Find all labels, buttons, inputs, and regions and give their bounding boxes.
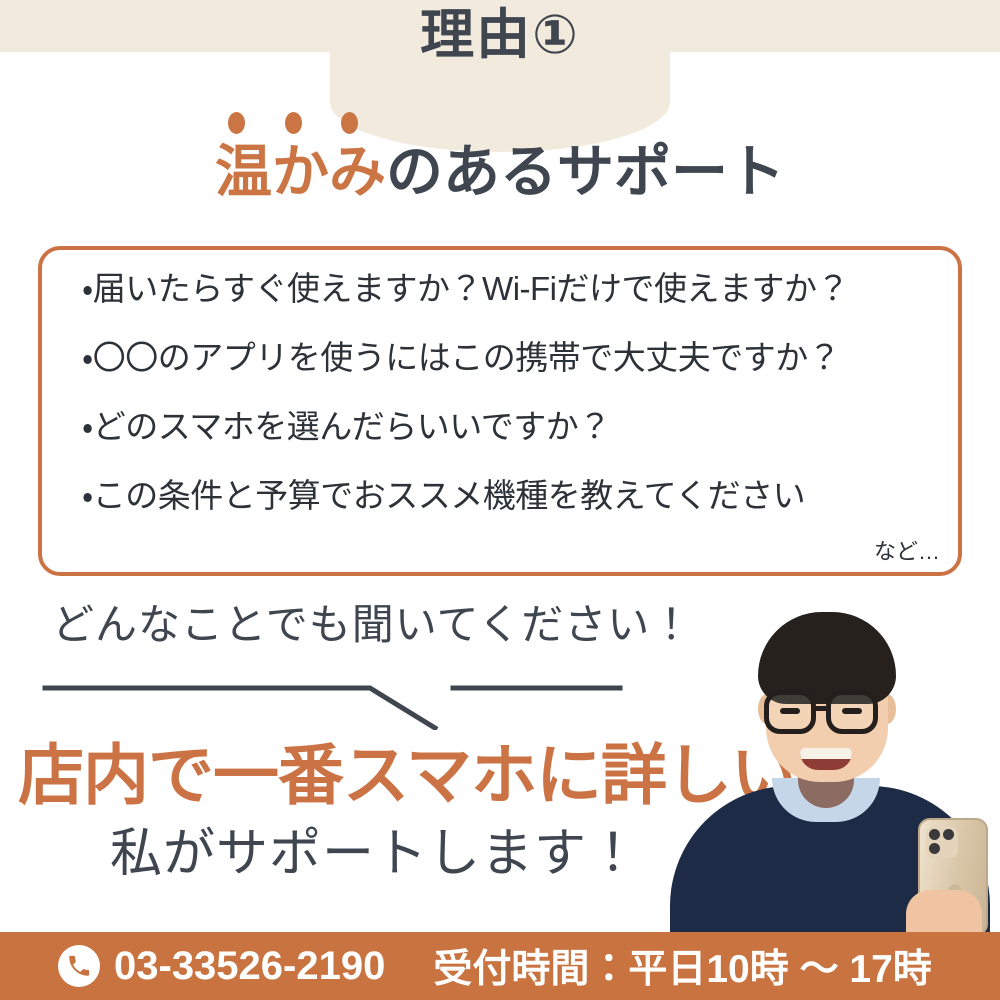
speech-bubble-tail-divider — [40, 660, 700, 730]
emphasis-dot — [285, 112, 302, 134]
staff-photo — [660, 590, 1000, 935]
emphasis-dots — [228, 112, 358, 134]
subtitle-rest: のあるサポート — [386, 140, 785, 204]
emphasis-dot — [228, 112, 245, 134]
question-box: ・届いたらすぐ使えますか？Wi-Fiだけで使えますか？ ・〇〇のアプリを使うには… — [38, 246, 962, 576]
ask-anything-text: どんなことでも聞いてください！ — [52, 604, 693, 646]
hand — [906, 890, 982, 935]
phone-number[interactable]: 03-33526-2190 — [114, 944, 385, 989]
list-item: ・〇〇のアプリを使うにはこの携帯で大丈夫ですか？ — [82, 341, 940, 374]
etc-note: など… — [874, 534, 940, 566]
contact-footer: 03-33526-2190 受付時間：平日10時 〜 17時 — [0, 932, 1000, 1000]
promo-poster: 理由① 温かみのあるサポート ・届いたらすぐ使えますか？Wi-Fiだけで使えます… — [0, 0, 1000, 1000]
question-list: ・届いたらすぐ使えますか？Wi-Fiだけで使えますか？ ・〇〇のアプリを使うには… — [82, 272, 940, 512]
headline-dark: 私がサポートします！ — [110, 828, 640, 880]
business-hours: 受付時間：平日10時 〜 17時 — [433, 938, 931, 994]
list-item: ・届いたらすぐ使えますか？Wi-Fiだけで使えますか？ — [82, 272, 940, 305]
emphasis-dot — [341, 112, 358, 134]
teeth — [800, 748, 852, 759]
list-item: ・どのスマホを選んだらいいですか？ — [82, 410, 940, 443]
phone-icon[interactable] — [58, 945, 100, 987]
smiling-mouth — [800, 748, 852, 770]
camera-module-icon — [926, 826, 958, 858]
header-band-bulge — [330, 52, 670, 152]
eye-right — [842, 708, 862, 714]
list-item: ・この条件と予算でおススメ機種を教えてください — [82, 479, 940, 512]
page-title: 理由① — [0, 8, 1000, 62]
subtitle: 温かみのあるサポート — [0, 140, 1000, 206]
eye-left — [780, 708, 800, 714]
glasses-bridge — [815, 706, 829, 711]
subtitle-accent: 温かみ — [215, 140, 386, 204]
